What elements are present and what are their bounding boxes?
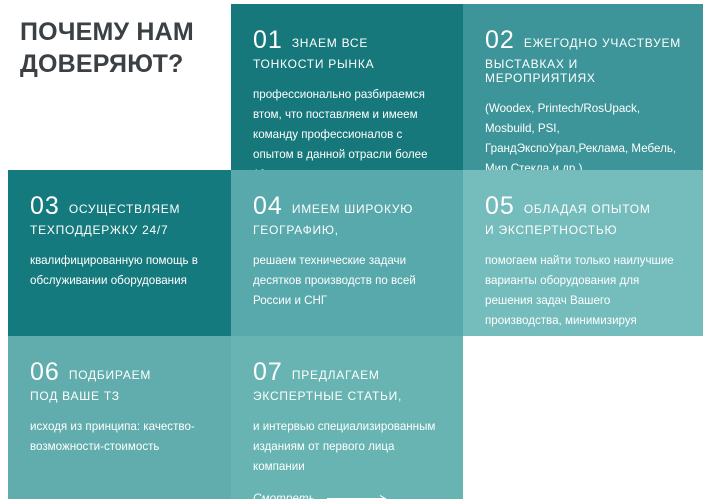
- feature-card-05[interactable]: 05ОБЛАДАЯ ОПЫТОМ И ЭКСПЕРТНОСТЬЮ помогае…: [463, 170, 703, 336]
- card-07-heading-line-1: ПРЕДЛАГАЕМ: [292, 368, 380, 382]
- infographic-canvas: ПОЧЕМУ НАМ ДОВЕРЯЮТ? 01ЗНАЕМ ВСЕ ТОНКОСТ…: [0, 0, 720, 499]
- card-06-heading-line-1: ПОДБИРАЕМ: [69, 368, 151, 382]
- card-01-body: профессионально разбираемся втом, что по…: [253, 85, 443, 170]
- card-03-number: 03: [30, 192, 60, 220]
- card-05-body: помогаем найти только наилучшие варианты…: [485, 251, 683, 336]
- card-03-heading: 03ОСУЩЕСТВЛЯЕМ ТЕХПОДДЕРЖКУ 24/7: [30, 192, 211, 237]
- card-04-body: решаем технические задачи десятков произ…: [253, 251, 443, 311]
- feature-card-06[interactable]: 06ПОДБИРАЕМ ПОД ВАШЕ ТЗ исходя из принци…: [8, 336, 231, 499]
- card-07-more-link[interactable]: Смотреть: [253, 493, 443, 499]
- card-01-heading-line-2: ТОНКОСТИ РЫНКА: [253, 57, 443, 71]
- card-04-heading-line-1: ИМЕЕМ ШИРОКУЮ: [292, 202, 413, 216]
- card-07-more-label: Смотреть: [253, 493, 315, 499]
- card-02-heading-line-2: ВЫСТАВКАХ И МЕРОПРИЯТИЯХ: [485, 57, 683, 85]
- card-07-number: 07: [253, 358, 283, 386]
- card-02-body: (Woodex, Printech/RosUpack, Mosbuild, PS…: [485, 99, 683, 170]
- card-02-number: 02: [485, 26, 515, 54]
- feature-card-02[interactable]: 02ЕЖЕГОДНО УЧАСТВУЕМ ВЫСТАВКАХ И МЕРОПРИ…: [463, 4, 703, 170]
- page-title-line-2: ДОВЕРЯЮТ?: [20, 50, 184, 78]
- card-01-number: 01: [253, 26, 283, 54]
- avito-logo-icon: [635, 467, 656, 487]
- card-06-number: 06: [30, 358, 60, 386]
- page-title-line-1: ПОЧЕМУ НАМ: [20, 18, 194, 46]
- card-06-heading-line-2: ПОД ВАШЕ ТЗ: [30, 389, 211, 403]
- card-06-heading: 06ПОДБИРАЕМ ПОД ВАШЕ ТЗ: [30, 358, 211, 403]
- avito-watermark: Avito: [635, 467, 706, 487]
- card-03-heading-line-1: ОСУЩЕСТВЛЯЕМ: [69, 202, 181, 216]
- feature-card-04[interactable]: 04ИМЕЕМ ШИРОКУЮ ГЕОГРАФИЮ, решаем технич…: [231, 170, 463, 336]
- avito-wordmark: Avito: [661, 468, 706, 487]
- card-02-heading-line-1: ЕЖЕГОДНО УЧАСТВУЕМ: [524, 36, 681, 50]
- arrow-right-icon: [327, 494, 389, 499]
- card-07-heading-line-2: ЭКСПЕРТНЫЕ СТАТЬИ,: [253, 389, 443, 403]
- card-05-heading-line-1: ОБЛАДАЯ ОПЫТОМ: [524, 202, 651, 216]
- card-05-heading: 05ОБЛАДАЯ ОПЫТОМ И ЭКСПЕРТНОСТЬЮ: [485, 192, 683, 237]
- card-03-heading-line-2: ТЕХПОДДЕРЖКУ 24/7: [30, 223, 211, 237]
- card-02-heading: 02ЕЖЕГОДНО УЧАСТВУЕМ ВЫСТАВКАХ И МЕРОПРИ…: [485, 26, 683, 85]
- card-06-body: исходя из принципа: качество-возможности…: [30, 417, 211, 457]
- card-01-heading: 01ЗНАЕМ ВСЕ ТОНКОСТИ РЫНКА: [253, 26, 443, 71]
- feature-card-07[interactable]: 07ПРЕДЛАГАЕМ ЭКСПЕРТНЫЕ СТАТЬИ, и интерв…: [231, 336, 463, 499]
- card-04-heading: 04ИМЕЕМ ШИРОКУЮ ГЕОГРАФИЮ,: [253, 192, 443, 237]
- feature-card-03[interactable]: 03ОСУЩЕСТВЛЯЕМ ТЕХПОДДЕРЖКУ 24/7 квалифи…: [8, 170, 231, 336]
- feature-card-01[interactable]: 01ЗНАЕМ ВСЕ ТОНКОСТИ РЫНКА профессиональ…: [231, 4, 463, 170]
- card-07-body: и интервью специализированным изданиям о…: [253, 417, 443, 477]
- card-01-heading-line-1: ЗНАЕМ ВСЕ: [292, 36, 368, 50]
- card-05-number: 05: [485, 192, 515, 220]
- title-block: ПОЧЕМУ НАМ ДОВЕРЯЮТ?: [0, 0, 231, 170]
- page-title: ПОЧЕМУ НАМ ДОВЕРЯЮТ?: [0, 0, 231, 80]
- card-07-heading: 07ПРЕДЛАГАЕМ ЭКСПЕРТНЫЕ СТАТЬИ,: [253, 358, 443, 403]
- card-03-body: квалифицированную помощь в обслуживании …: [30, 251, 211, 291]
- card-04-heading-line-2: ГЕОГРАФИЮ,: [253, 223, 443, 237]
- card-04-number: 04: [253, 192, 283, 220]
- card-05-heading-line-2: И ЭКСПЕРТНОСТЬЮ: [485, 223, 683, 237]
